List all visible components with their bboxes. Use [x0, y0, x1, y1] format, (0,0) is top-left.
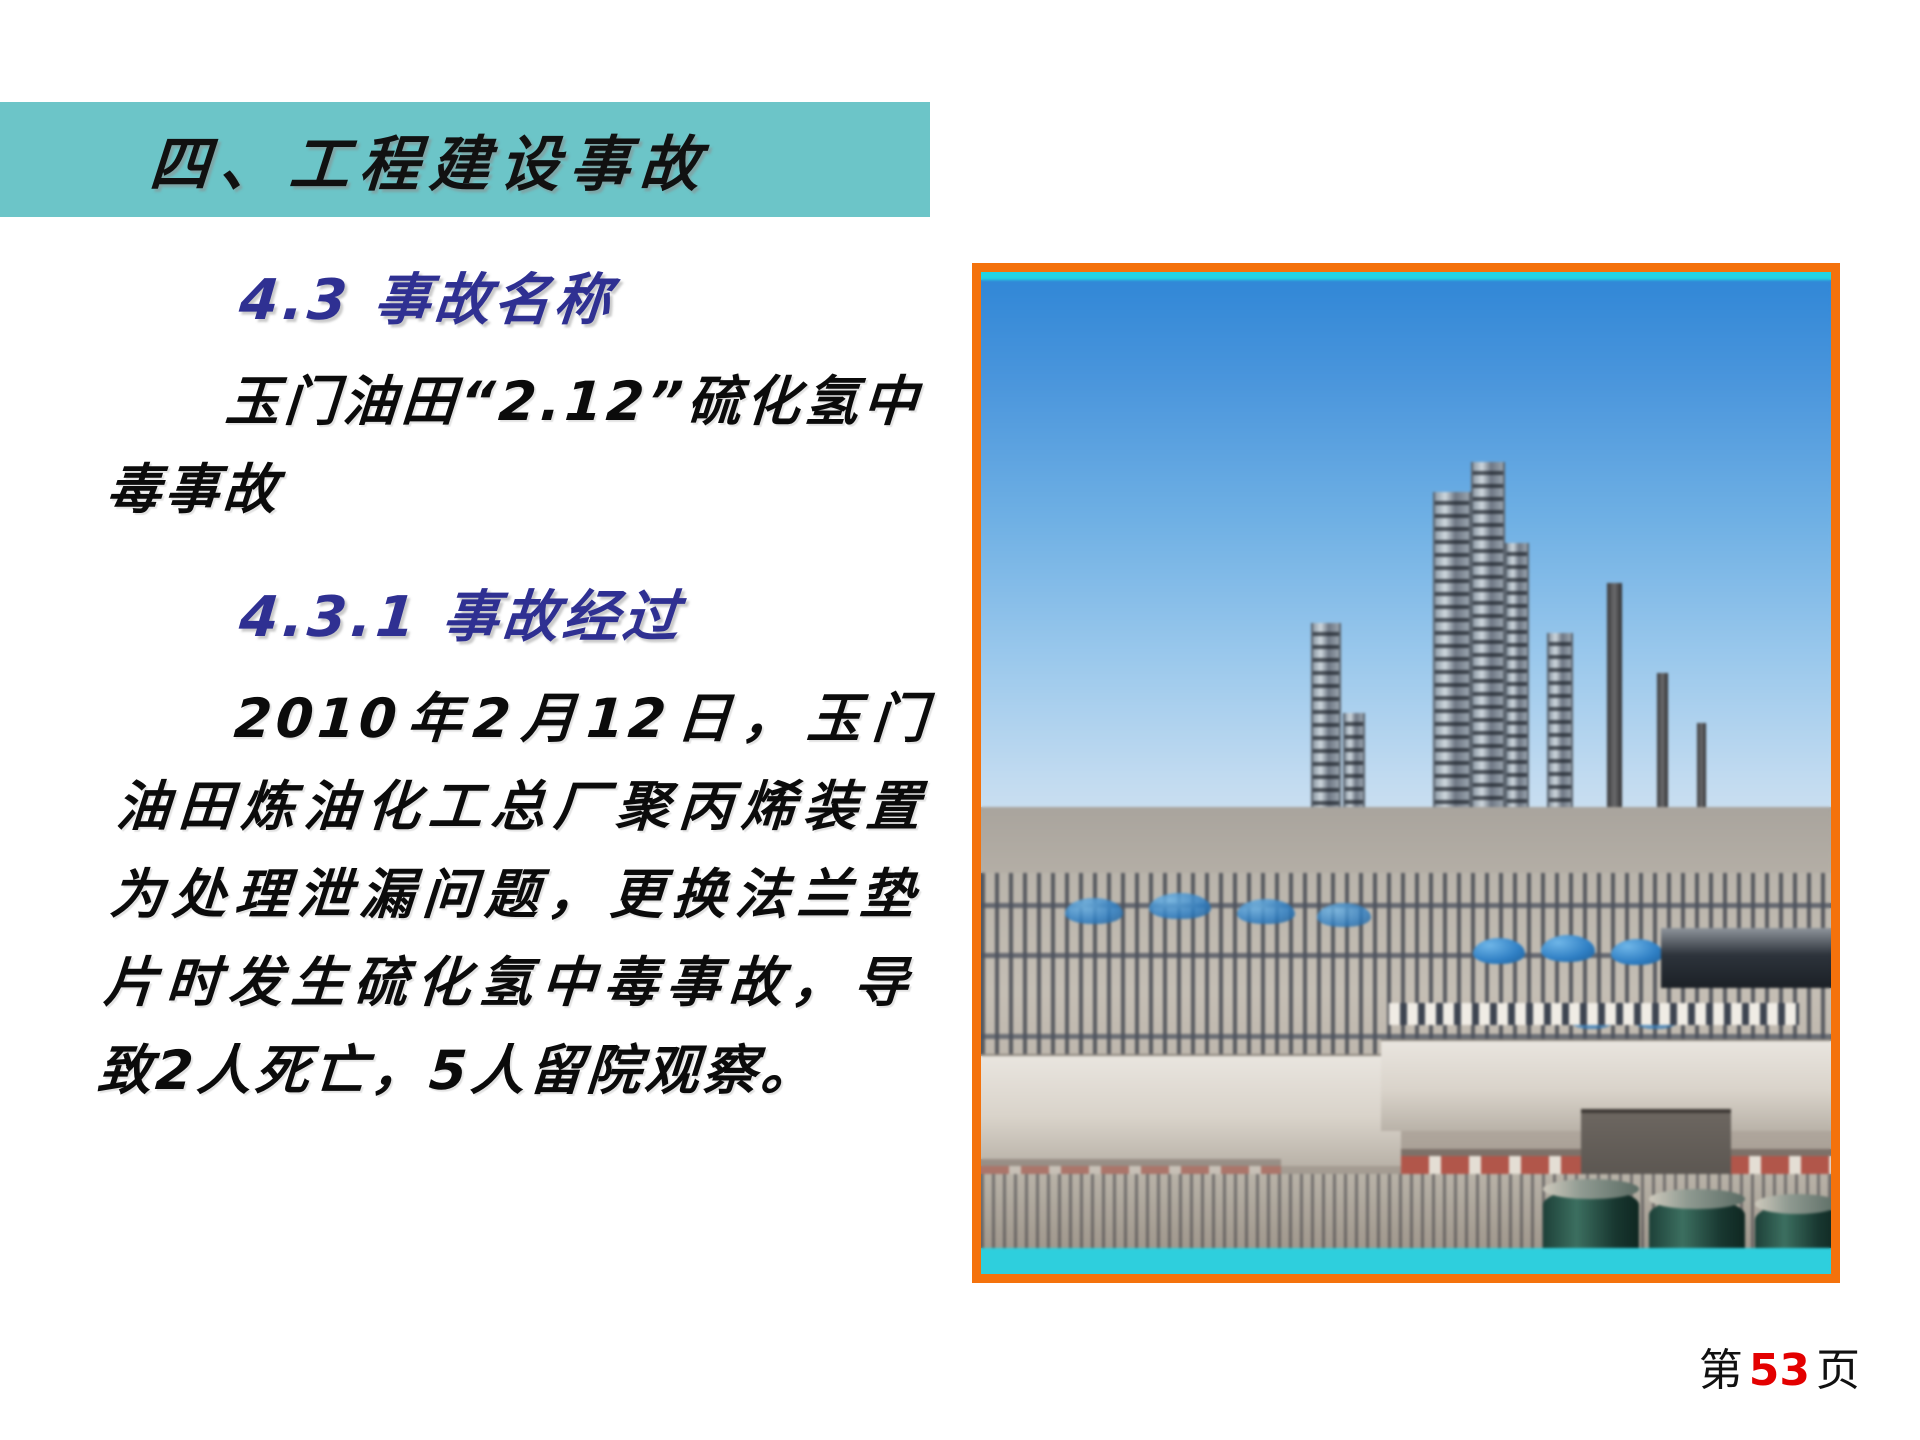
page-number-value: 53	[1743, 1345, 1816, 1396]
section-body-text: 玉门油田“2.12”硫化氢中毒事故	[105, 370, 924, 521]
section-heading-4-3-1: 4.3.1 事故经过	[236, 572, 943, 653]
blue-tank-6	[1541, 935, 1595, 962]
white-building-1	[981, 1054, 1401, 1166]
blue-tank-3	[1237, 899, 1295, 924]
white-wall-windows	[1389, 1003, 1799, 1025]
blue-tank-1	[1065, 898, 1123, 924]
dark-tank-row	[1661, 928, 1831, 988]
content-column: 4.3 事故名称 玉门油田“2.12”硫化氢中毒事故 4.3.1 事故经过 20…	[0, 255, 940, 1115]
photo-inner-edge-top	[981, 272, 1831, 280]
photo-frame	[972, 263, 1840, 1283]
page-number: 第53页	[1699, 1334, 1860, 1398]
blue-tank-2	[1149, 893, 1211, 919]
refinery-photo	[981, 272, 1831, 1274]
section-body-4-3: 玉门油田“2.12”硫化氢中毒事故	[0, 358, 946, 534]
subsection-body-text: 2010年2月12日，玉门油田炼油化工总厂聚丙烯装置为处理泄漏问题，更换法兰垫片…	[96, 687, 933, 1102]
section-body-4-3-1: 2010年2月12日，玉门油田炼油化工总厂聚丙烯装置为处理泄漏问题，更换法兰垫片…	[0, 675, 955, 1115]
title-banner: 四、工程建设事故	[0, 102, 930, 217]
blue-tank-4	[1317, 903, 1371, 927]
photo-inner-edge-bottom	[981, 1248, 1831, 1274]
blue-tank-7	[1611, 939, 1663, 965]
page-prefix: 第	[1699, 1345, 1743, 1396]
blue-tank-5	[1473, 938, 1525, 964]
page-title: 四、工程建设事故	[147, 116, 713, 203]
section-heading-4-3: 4.3 事故名称	[236, 255, 943, 336]
page-suffix: 页	[1816, 1345, 1860, 1396]
